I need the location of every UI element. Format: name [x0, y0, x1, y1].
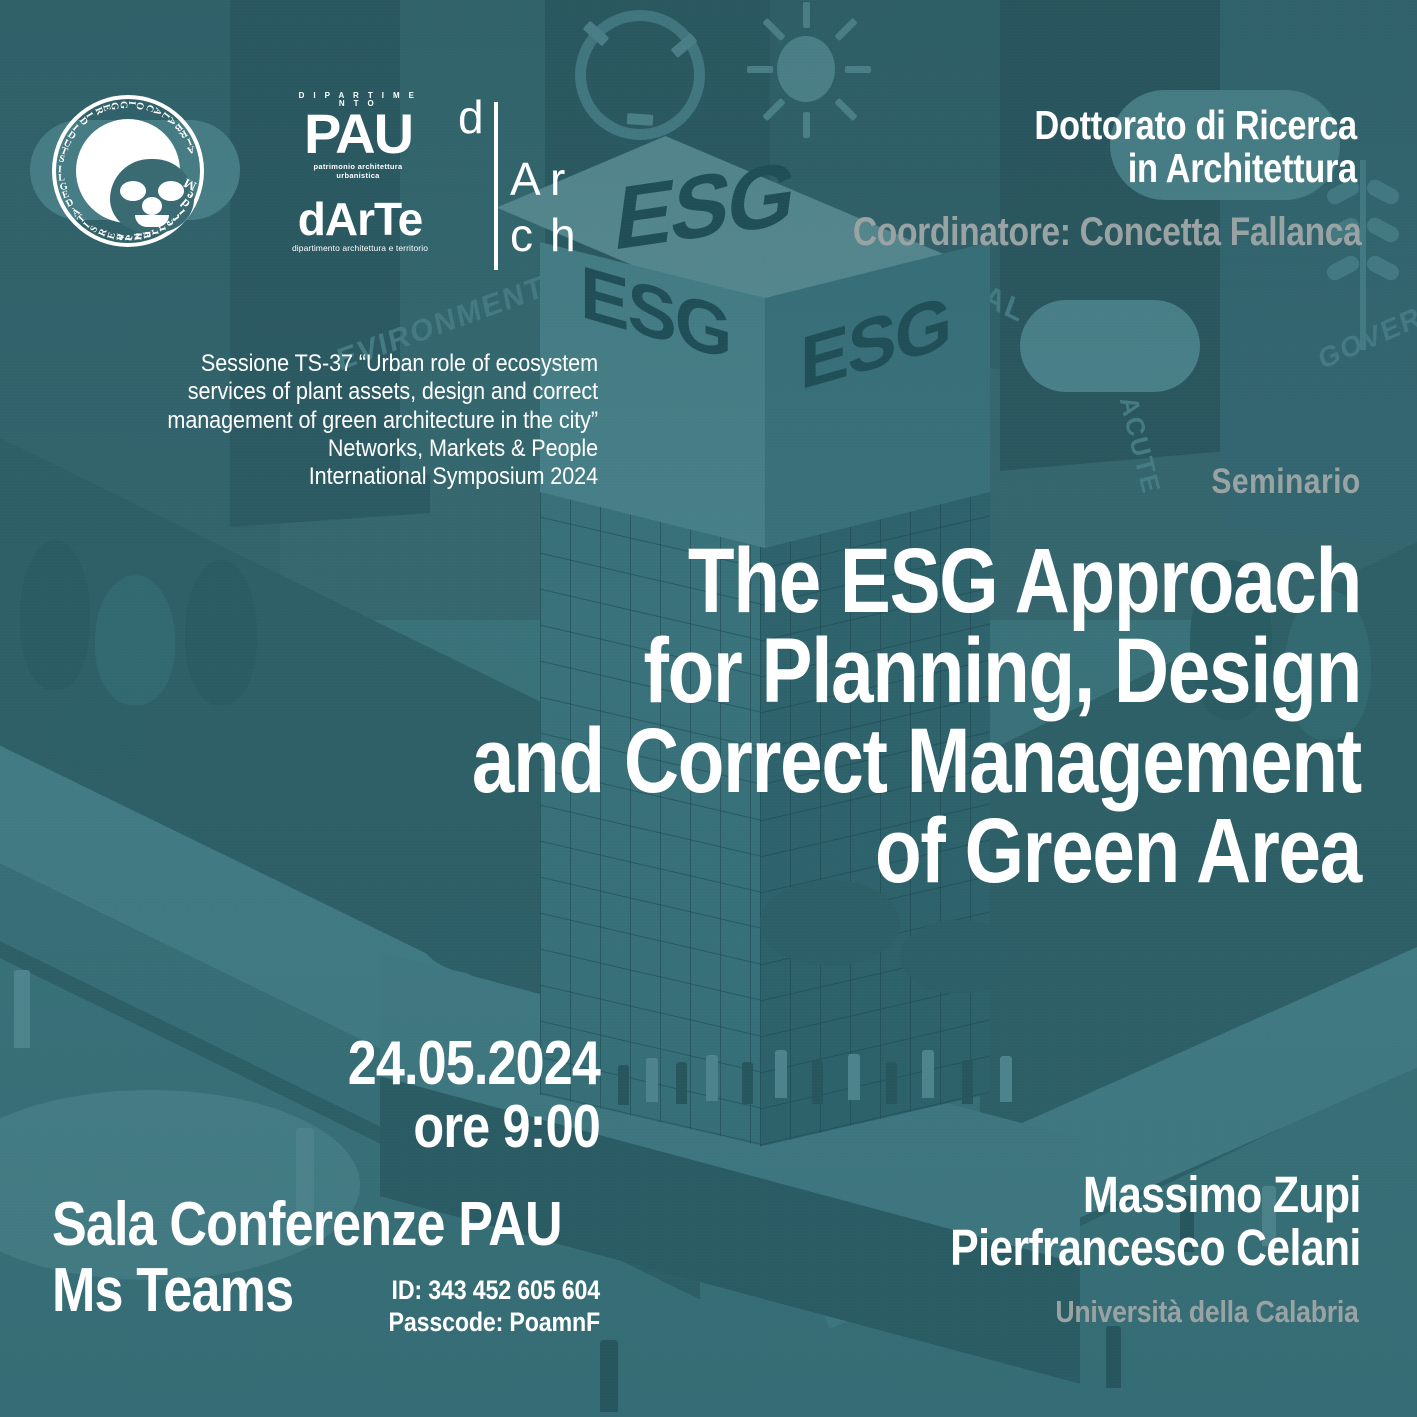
title-line-1: The ESG Approach — [431, 536, 1361, 626]
title-line-3: and Correct Management — [431, 716, 1361, 806]
darch-letter-c: c — [510, 212, 533, 258]
darch-letter-h: h — [550, 212, 576, 258]
speaker-name-1: Massimo Zupi — [951, 1168, 1361, 1221]
event-kind-label: Seminario — [1212, 462, 1361, 502]
darte-expansion: dipartimento architettura e territorio — [286, 243, 434, 253]
coordinator-line: Coordinatore: Concetta Fallanca — [852, 212, 1361, 252]
teams-meeting-id: ID: 343 452 605 604 — [368, 1274, 600, 1306]
logo-universita-mediterranea: U N I V E R S I T À D E G L I S T U D I — [52, 95, 204, 247]
darch-letter-a: A — [510, 156, 541, 202]
title-line-2: for Planning, Design — [431, 626, 1361, 716]
event-datetime: 24.05.2024 ore 9:00 — [146, 1032, 600, 1160]
pau-acronym: PAU — [292, 108, 424, 160]
logo-darte: dArTe dipartimento architettura e territ… — [286, 196, 434, 266]
seal-arc-text: U N I V E R S I T À D E G L I S T U D I — [52, 95, 204, 247]
darch-letter-d: d — [458, 94, 484, 140]
logo-darch: d A r c h — [452, 100, 592, 272]
title-line-4: of Green Area — [431, 806, 1361, 896]
darch-letter-r: r — [550, 156, 565, 202]
venue-line-1: Sala Conferenze PAU — [52, 1192, 562, 1258]
speaker-name-2: Pierfrancesco Celani — [951, 1221, 1361, 1274]
teams-credentials: ID: 343 452 605 604 Passcode: PoamnF — [368, 1274, 600, 1339]
page-title: The ESG Approach for Planning, Design an… — [431, 536, 1361, 897]
poster-content: U N I V E R S I T À D E G L I S T U D I — [0, 0, 1417, 1417]
session-description: Sessione TS-37 “Urban role of ecosystem … — [130, 350, 598, 492]
speaker-list: Massimo Zupi Pierfrancesco Celani — [951, 1168, 1361, 1274]
poster-root: EVIRONMENTAL SOCIAL GOVERNANCE ACUTE ESG… — [0, 0, 1417, 1417]
event-time: ore 9:00 — [146, 1095, 600, 1160]
speaker-affiliation: Università della Calabria — [1056, 1296, 1359, 1327]
logo-pau: D I P A R T I M E N T O PAU patrimonio a… — [292, 92, 424, 184]
teams-passcode: Passcode: PoamnF — [368, 1306, 600, 1338]
darte-acronym: dArTe — [286, 196, 434, 242]
darch-divider-bar — [494, 102, 498, 270]
doctoral-program-title: Dottorato di Ricerca in Architettura — [1035, 104, 1357, 189]
event-date: 24.05.2024 — [146, 1032, 600, 1095]
